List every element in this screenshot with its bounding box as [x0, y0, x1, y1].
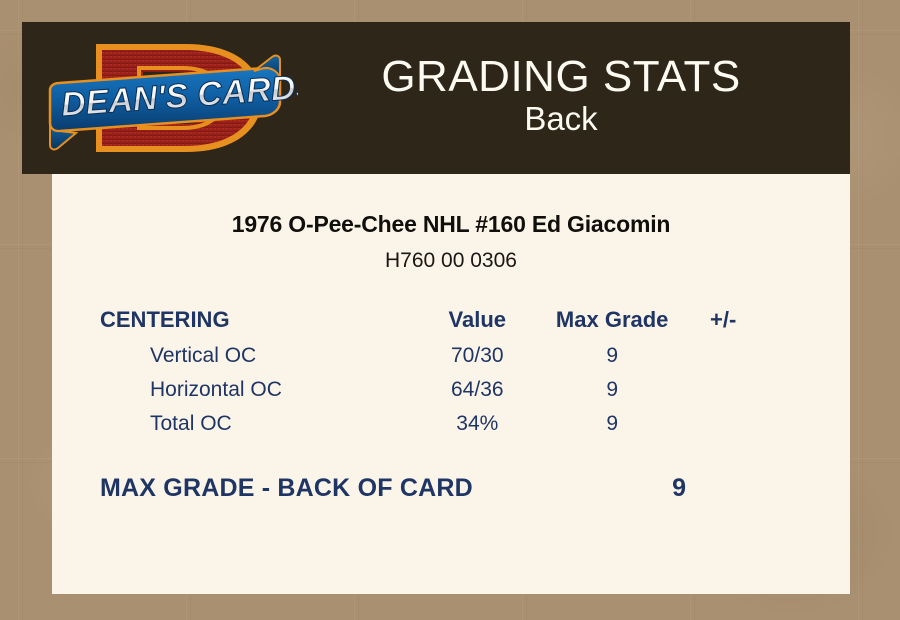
max-grade-label: MAX GRADE - BACK OF CARD [100, 474, 473, 503]
row-plus-minus [686, 344, 760, 378]
row-value: 64/36 [417, 378, 538, 412]
table-header-row: CENTERING Value Max Grade +/- [100, 307, 760, 344]
row-label: Vertical OC [100, 344, 417, 378]
cert-number: H760 00 0306 [52, 238, 850, 273]
content-panel: 1976 O-Pee-Chee NHL #160 Ed Giacomin H76… [52, 174, 850, 594]
row-value: 70/30 [417, 344, 538, 378]
page-title: GRADING STATS [298, 53, 824, 101]
row-max-grade: 9 [538, 344, 686, 378]
column-header-value: Value [417, 307, 538, 344]
row-max-grade: 9 [538, 412, 686, 446]
max-grade-summary: MAX GRADE - BACK OF CARD 9 [100, 474, 760, 503]
centering-stats-table: CENTERING Value Max Grade +/- Vertical O… [100, 307, 760, 446]
row-plus-minus [686, 378, 760, 412]
deans-cards-logo[interactable]: DEAN'S CARDS [40, 28, 298, 168]
column-header-centering: CENTERING [100, 307, 417, 344]
max-grade-value: 9 [672, 474, 760, 503]
grading-stats-card: DEAN'S CARDS GRADING STATS Back 1976 O-P… [22, 22, 850, 594]
row-plus-minus [686, 412, 760, 446]
row-label: Total OC [100, 412, 417, 446]
table-row: Horizontal OC 64/36 9 [100, 378, 760, 412]
row-max-grade: 9 [538, 378, 686, 412]
column-header-max-grade: Max Grade [538, 307, 686, 344]
column-header-plus-minus: +/- [686, 307, 760, 344]
table-row: Vertical OC 70/30 9 [100, 344, 760, 378]
card-header-bar: DEAN'S CARDS GRADING STATS Back [22, 22, 850, 174]
header-title-group: GRADING STATS Back [298, 53, 850, 143]
table-row: Total OC 34% 9 [100, 412, 760, 446]
card-title: 1976 O-Pee-Chee NHL #160 Ed Giacomin [52, 174, 850, 238]
row-label: Horizontal OC [100, 378, 417, 412]
page-subtitle: Back [298, 100, 824, 139]
row-value: 34% [417, 412, 538, 446]
